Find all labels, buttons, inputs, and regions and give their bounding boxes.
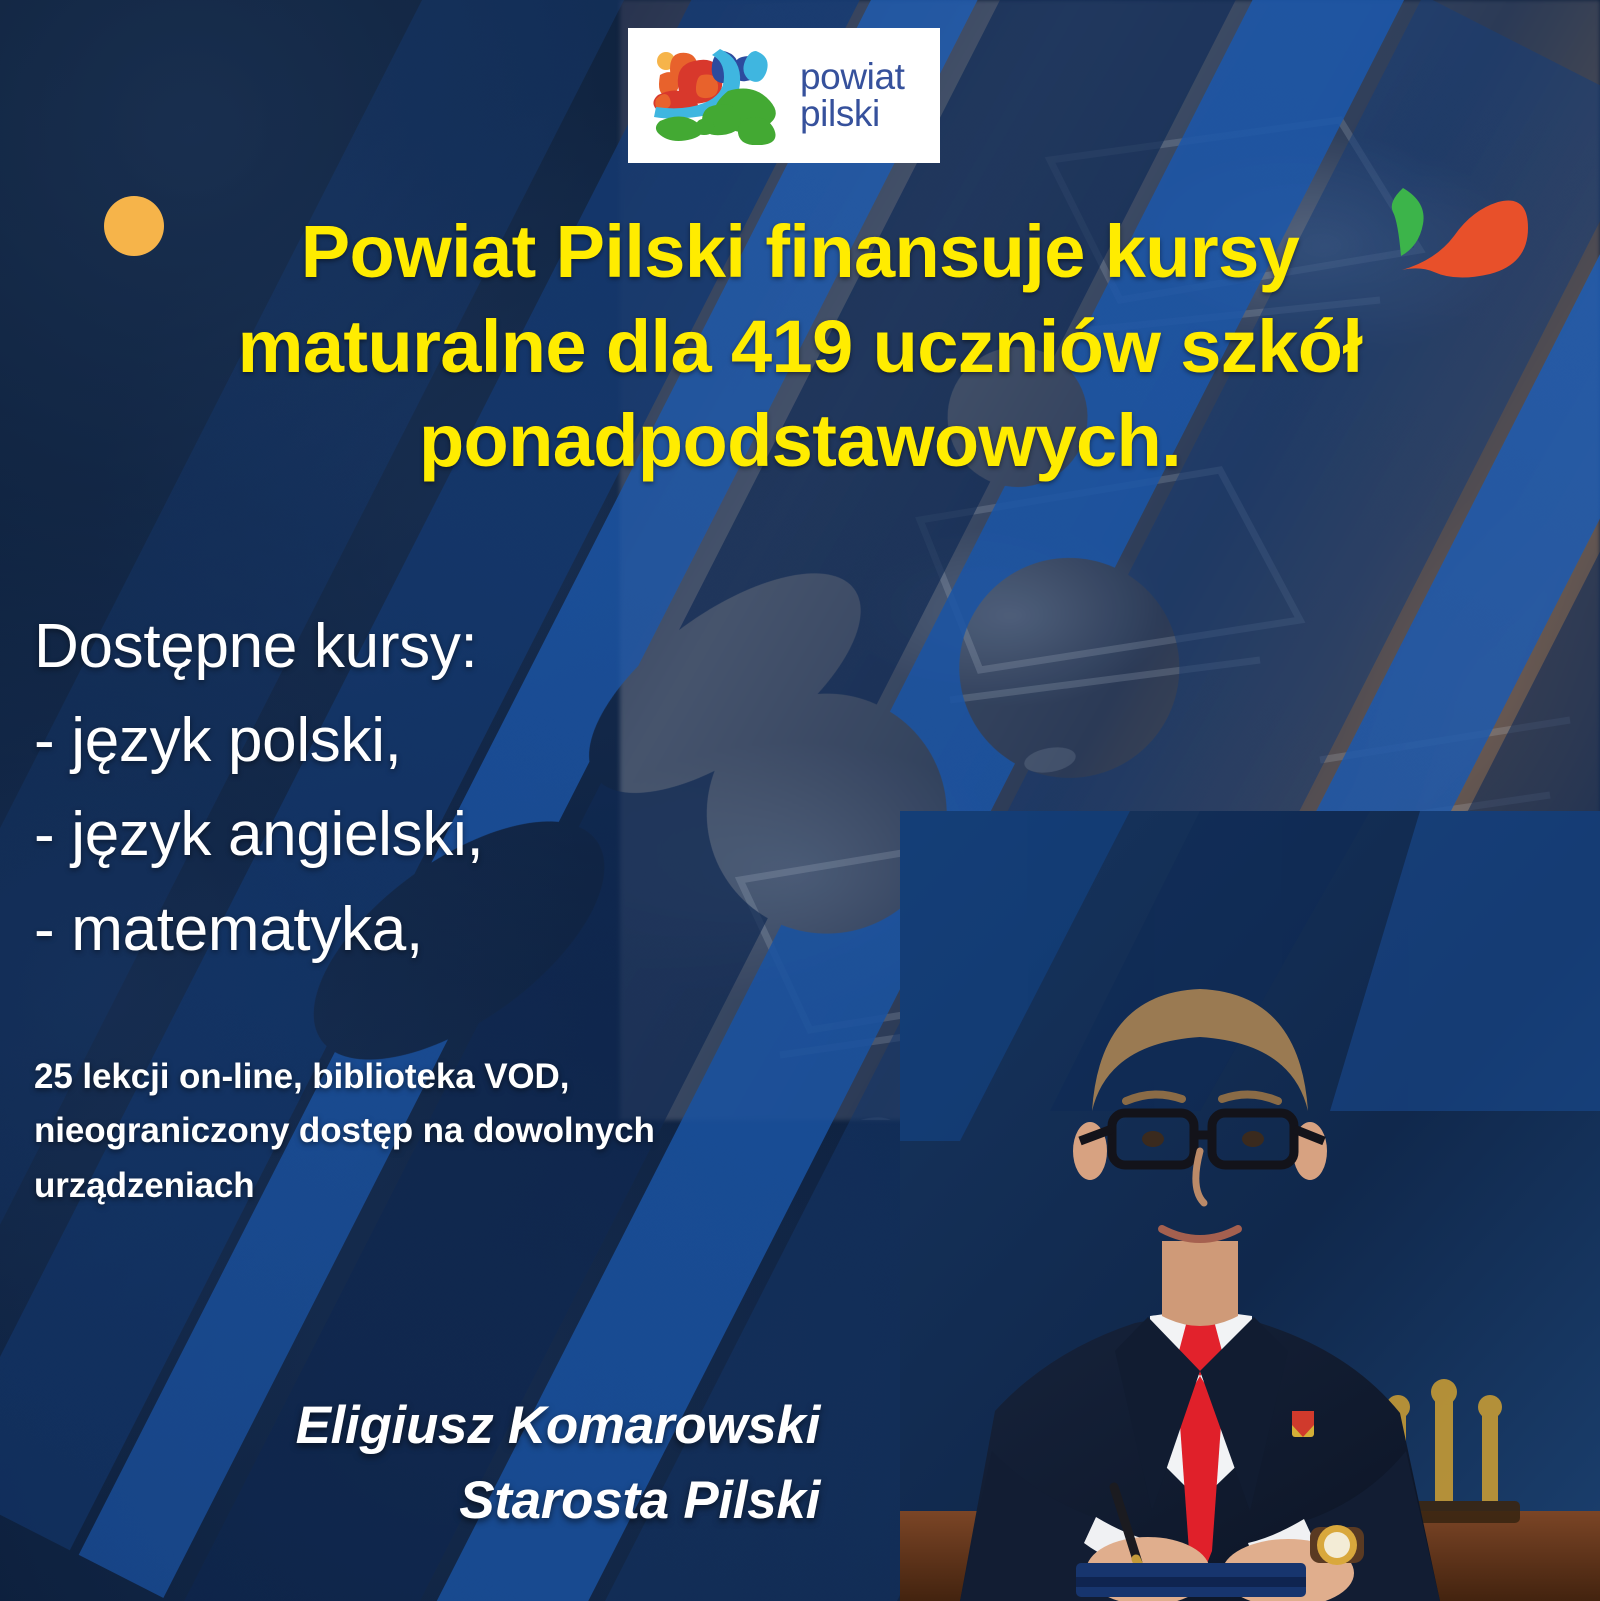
courses-block: Dostępne kursy: - język polski, - język …: [34, 600, 794, 977]
signature-block: Eligiusz Komarowski Starosta Pilski: [60, 1388, 820, 1539]
headline-line-2: maturalne dla 419 uczniów szkół: [140, 300, 1460, 395]
details-line-1: 25 lekcji on-line, biblioteka VOD,: [34, 1050, 914, 1104]
logo-mark-icon: [650, 47, 782, 145]
logo-word-line2: pilski: [800, 93, 880, 134]
signature-title: Starosta Pilski: [60, 1463, 820, 1538]
course-item-english: - język angielski,: [34, 788, 794, 882]
details-line-3: urządzeniach: [34, 1159, 914, 1213]
details-block: 25 lekcji on-line, biblioteka VOD, nieog…: [34, 1050, 914, 1213]
portrait-photo: [900, 811, 1600, 1601]
headline-line-1: Powiat Pilski finansuje kursy: [140, 205, 1460, 300]
signature-name: Eligiusz Komarowski: [60, 1388, 820, 1463]
details-line-2: nieograniczony dostęp na dowolnych: [34, 1104, 914, 1158]
powiat-pilski-logo: powiatpilski: [628, 28, 940, 163]
course-item-polish: - język polski,: [34, 694, 794, 788]
poster-canvas: powiatpilski Powiat Pilski finansuje kur…: [0, 0, 1600, 1601]
headline-line-3: ponadpodstawowych.: [140, 394, 1460, 489]
courses-heading: Dostępne kursy:: [34, 600, 794, 694]
logo-word-line1: powiat: [800, 56, 905, 97]
course-item-math: - matematyka,: [34, 883, 794, 977]
logo-wordmark: powiatpilski: [800, 59, 905, 132]
page-title: Powiat Pilski finansuje kursy maturalne …: [140, 205, 1460, 489]
